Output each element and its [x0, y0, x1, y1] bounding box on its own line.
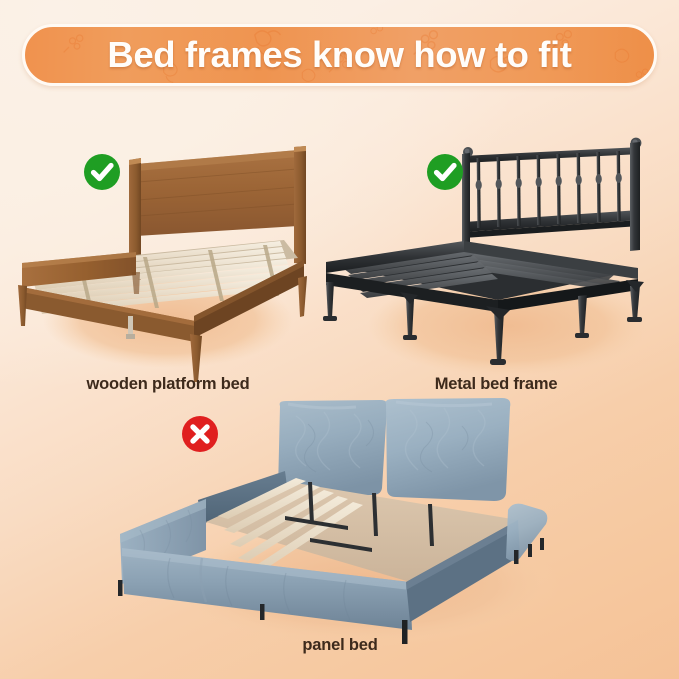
wooden-bed-illustration	[8, 130, 328, 400]
cross-icon	[180, 414, 220, 454]
check-badge-wooden	[82, 152, 122, 192]
cross-badge-panel	[180, 414, 220, 454]
check-icon	[425, 152, 465, 192]
check-badge-metal	[425, 152, 465, 192]
caption-metal-bed-frame: Metal bed frame	[318, 375, 674, 394]
metal-headboard	[462, 138, 641, 255]
figure-metal-bed-frame: Metal bed frame	[318, 130, 674, 400]
page-title: Bed frames know how to fit	[25, 27, 654, 83]
title-banner-wrapper: Bed frames know how to fit	[22, 24, 657, 86]
figure-wooden-platform-bed: wooden platform bed	[8, 130, 328, 400]
metal-bed-illustration	[318, 130, 674, 400]
caption-wooden-platform-bed: wooden platform bed	[8, 375, 328, 394]
caption-panel-bed: panel bed	[110, 636, 570, 655]
figure-panel-bed: panel bed	[110, 398, 570, 668]
check-icon	[82, 152, 122, 192]
panel-bed-illustration	[110, 398, 570, 668]
title-banner: Bed frames know how to fit	[22, 24, 657, 86]
